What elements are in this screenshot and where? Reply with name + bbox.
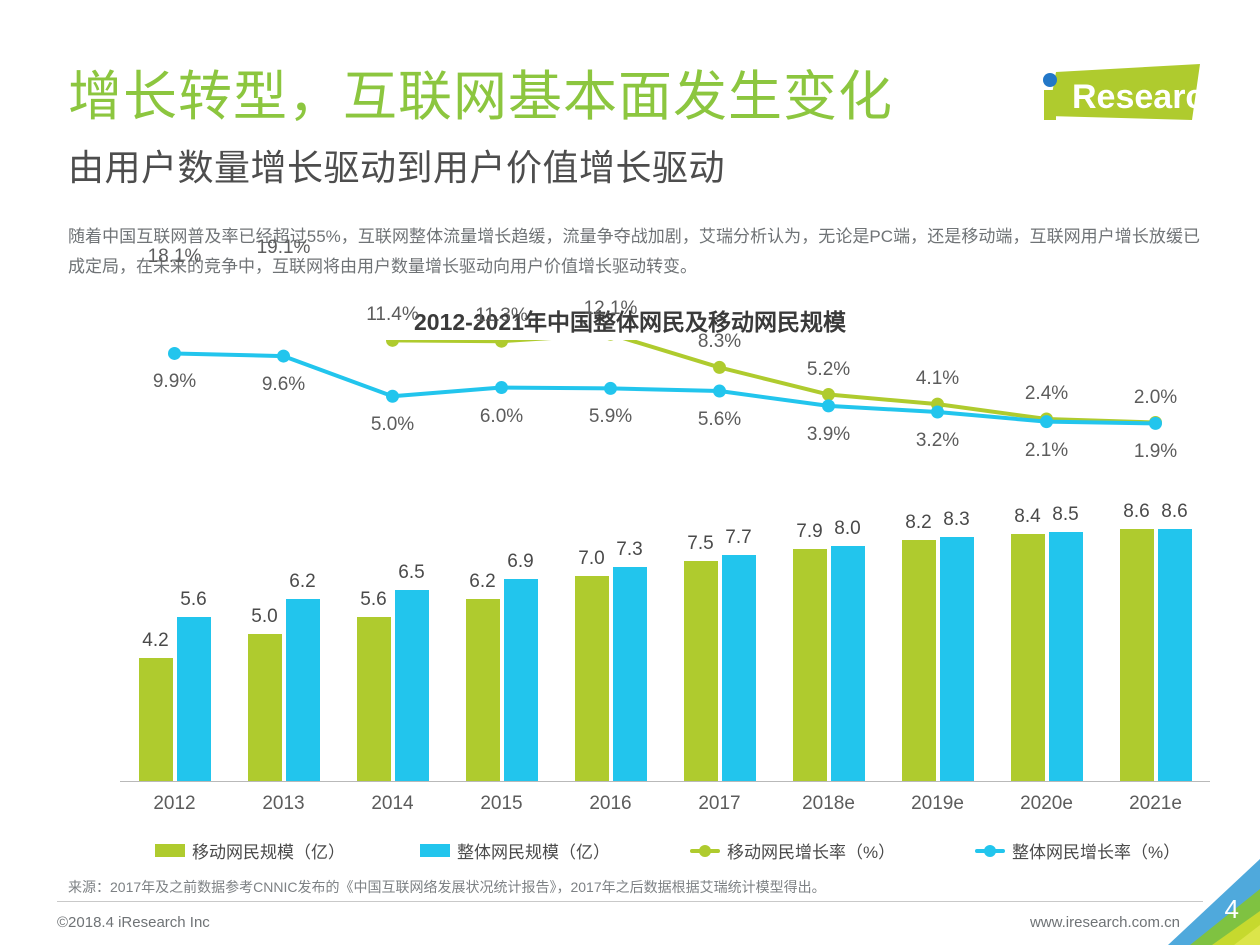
line-marker [822,399,835,412]
x-axis-labels: 2012201320142015201620172018e2019e2020e2… [120,793,1210,821]
growth-rate-label: 9.9% [125,371,225,393]
bar-value-label: 4.2 [131,630,181,652]
x-axis-label-2012: 2012 [120,793,229,815]
bar-value-label: 6.2 [278,571,328,593]
x-axis-label-2018e: 2018e [774,793,883,815]
x-axis-label-2015: 2015 [447,793,556,815]
bar-overall-2017 [722,555,756,781]
page-title: 增长转型，互联网基本面发生变化 [68,66,893,128]
line-marker [1040,415,1053,428]
bar-value-label: 8.5 [1041,504,1091,526]
bar-overall-2018e [831,546,865,781]
line-marker [822,388,835,401]
bar-value-label: 8.3 [932,509,982,531]
line-marker [495,340,508,348]
x-axis-label-2017: 2017 [665,793,774,815]
legend-item-0[interactable]: 移动网民规模（亿） [155,838,345,863]
legend-swatch-bar-icon [155,844,185,857]
line-marker [604,340,617,341]
bar-overall-2020e [1049,532,1083,781]
bar-overall-2019e [940,537,974,781]
page-number: 4 [1225,894,1239,925]
x-axis-label-2021e: 2021e [1101,793,1210,815]
legend-label: 整体网民规模（亿） [457,838,610,863]
growth-rate-label: 2.0% [1106,387,1206,409]
bar-mobile-2018e [793,549,827,781]
legend-item-2[interactable]: 移动网民增长率（%） [690,838,895,863]
growth-rate-label: 11.3% [452,305,552,327]
line-marker [713,361,726,374]
chart-plot-area: 4.25.05.66.27.07.57.98.28.48.65.66.26.56… [120,340,1210,785]
growth-rate-lines [120,340,1210,785]
bar-value-label: 6.5 [387,562,437,584]
legend-swatch-bar-icon [420,844,450,857]
bar-value-label: 8.6 [1150,501,1200,523]
growth-rate-label: 3.9% [779,424,879,446]
logo-mark: Research [1032,58,1202,128]
chart-legend: 移动网民规模（亿）整体网民规模（亿）移动网民增长率（%）整体网民增长率（%） [120,838,1210,864]
bar-mobile-2017 [684,561,718,781]
x-axis-label-2020e: 2020e [992,793,1101,815]
x-axis-label-2019e: 2019e [883,793,992,815]
bar-value-label: 8.0 [823,518,873,540]
iresearch-logo: Research 艾瑞咨询 [1032,58,1202,150]
line-marker [604,382,617,395]
line-marker [386,340,399,347]
growth-rate-label: 6.0% [452,406,552,428]
copyright-text: ©2018.4 iResearch Inc [57,914,210,931]
bar-value-label: 6.9 [496,551,546,573]
legend-swatch-line-icon [975,844,1005,857]
bar-mobile-2016 [575,576,609,781]
line-marker [495,381,508,394]
growth-rate-label: 5.2% [779,359,879,381]
growth-rate-label: 12.1% [561,298,661,320]
growth-rate-label: 18.1% [125,246,225,268]
growth-rate-label: 8.3% [670,331,770,353]
source-note: 来源：2017年及之前数据参考CNNIC发布的《中国互联网络发展状况统计报告》，… [68,877,1200,897]
bar-mobile-2012 [139,658,173,781]
bar-value-label: 5.6 [169,589,219,611]
bar-overall-2015 [504,579,538,782]
legend-label: 移动网民增长率（%） [727,838,895,863]
line-marker [168,347,181,360]
line-marker [713,385,726,398]
growth-rate-label: 5.6% [670,409,770,431]
bar-mobile-2014 [357,617,391,781]
growth-rate-label: 4.1% [888,368,988,390]
x-axis-label-2014: 2014 [338,793,447,815]
growth-rate-label: 2.1% [997,440,1097,462]
bar-overall-2013 [286,599,320,781]
line-marker [931,406,944,419]
slide: 增长转型，互联网基本面发生变化 由用户数量增长驱动到用户价值增长驱动 随着中国互… [0,0,1260,945]
growth-rate-label: 1.9% [1106,441,1206,463]
x-axis-label-2016: 2016 [556,793,665,815]
line-marker [386,390,399,403]
x-axis-label-2013: 2013 [229,793,338,815]
line-marker [1149,417,1162,430]
bar-mobile-2020e [1011,534,1045,781]
growth-rate-label: 11.4% [343,304,443,326]
corner-decoration [1138,859,1260,945]
growth-rate-label: 3.2% [888,430,988,452]
bar-mobile-2021e [1120,529,1154,781]
legend-swatch-line-icon [690,844,720,857]
bar-value-label: 5.6 [349,589,399,611]
x-axis-line [120,781,1210,782]
growth-rate-label: 5.0% [343,414,443,436]
bar-overall-2014 [395,590,429,781]
growth-rate-label: 2.4% [997,383,1097,405]
growth-rate-label: 5.9% [561,406,661,428]
footer-divider [57,901,1203,902]
bar-value-label: 6.2 [458,571,508,593]
bar-mobile-2013 [248,634,282,781]
bar-overall-2016 [613,567,647,781]
bar-overall-2021e [1158,529,1192,781]
bar-mobile-2019e [902,540,936,781]
legend-label: 移动网民规模（亿） [192,838,345,863]
bar-overall-2012 [177,617,211,781]
growth-rate-label: 19.1% [234,237,334,259]
bar-value-label: 7.7 [714,527,764,549]
line-marker [277,350,290,363]
bar-mobile-2015 [466,599,500,781]
page-subtitle: 由用户数量增长驱动到用户价值增长驱动 [68,146,725,190]
legend-item-1[interactable]: 整体网民规模（亿） [420,838,610,863]
bar-value-label: 7.3 [605,539,655,561]
bar-value-label: 5.0 [240,606,290,628]
logo-wordmark: Research [1072,78,1202,116]
growth-rate-label: 9.6% [234,374,334,396]
